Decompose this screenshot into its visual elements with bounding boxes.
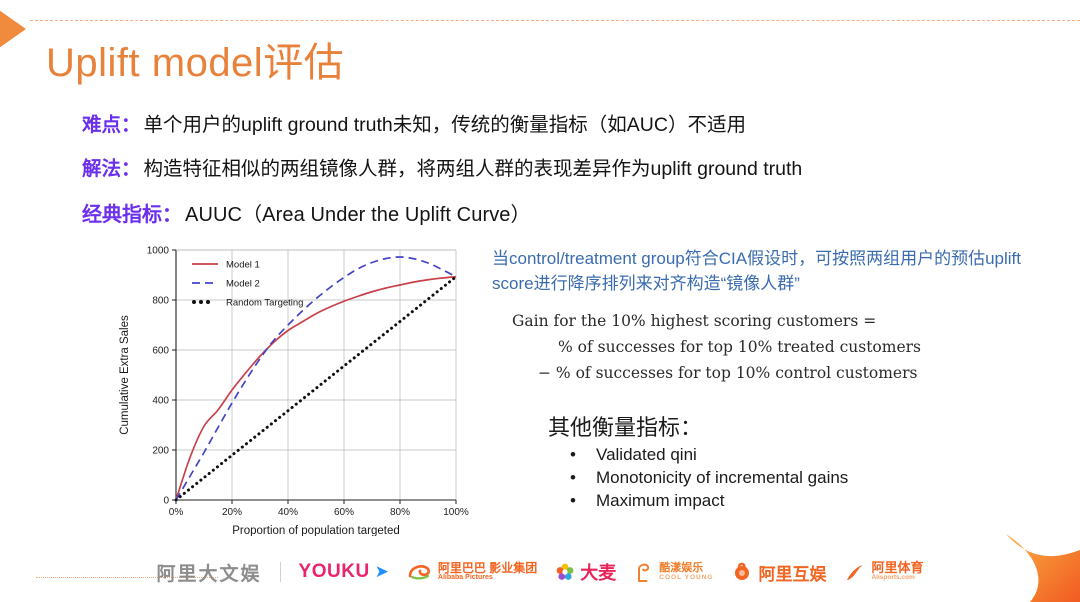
svg-text:200: 200 [152,446,169,457]
svg-text:60%: 60% [334,507,354,518]
alibaba-pictures-cn: 阿里巴巴 影业集团 [438,563,537,574]
legend-label: Random Targeting [226,298,303,309]
list-item: •Maximum impact [570,489,848,512]
bullet-icon: • [570,443,596,466]
cool-young-mark-icon [634,561,654,583]
gain-formula-line-2: % of successes for top 10% treated custo… [512,334,952,360]
alibaba-pictures-mark-icon [407,562,433,582]
alisports-en: Alisports.com [871,574,923,582]
svg-text:100%: 100% [443,507,469,518]
key-point-label-3: 经典指标： [82,204,182,226]
legend-label: Model 2 [226,279,260,290]
ali-huyu-wordmark: 阿里互娱 [758,560,826,585]
cool-young-en: COOL YOUNG [659,574,713,582]
logo-alibaba-digital-media: 阿里大文娱 [157,559,262,586]
logo-cool-young: 酷漾娱乐 COOL YOUNG [634,561,713,583]
gain-formula-block: Gain for the 10% highest scoring custome… [512,308,952,386]
slide-root: Uplift model评估 难点：单个用户的uplift ground tru… [0,0,1080,602]
gain-formula-line-1: Gain for the 10% highest scoring custome… [512,308,952,334]
uplift-curve-chart: 020040060080010000%20%40%60%80%100%Propo… [112,236,472,536]
list-item-label: Validated qini [596,445,697,464]
other-metrics-list: •Validated qini •Monotonicity of increme… [570,443,848,512]
chart-series-model-2 [176,257,456,500]
logo-ali-huyu: 阿里互娱 [731,560,826,585]
svg-text:1000: 1000 [147,246,170,257]
bullet-icon: • [570,466,596,489]
svg-text:400: 400 [152,396,169,407]
ali-huyu-mark-icon [731,562,753,582]
cool-young-wordmark: 酷漾娱乐 COOL YOUNG [659,563,713,582]
alibaba-pictures-en: Alibaba Pictures [438,574,537,582]
svg-text:Cumulative Extra Sales: Cumulative Extra Sales [119,315,131,435]
cool-young-cn: 酷漾娱乐 [659,563,713,574]
key-point-label-2: 解法： [82,158,141,180]
logo-youku-text: YOUKU [299,561,370,583]
list-item-label: Maximum impact [596,491,724,510]
footer-logo-strip: 阿里大文娱 YOUKU ➤ 阿里巴巴 影业集团 Alibaba Pictures [0,552,1080,592]
other-metrics-title: 其他衡量指标： [548,410,702,442]
key-point-text-2: 构造特征相似的两组镜像人群，将两组人群的表现差异作为uplift ground … [144,158,803,180]
alisports-cn: 阿里体育 [871,562,923,574]
gain-formula-line-3: − % of successes for top 10% control cus… [512,360,952,386]
top-divider-rule [30,20,1080,21]
svg-text:40%: 40% [278,507,298,518]
page-title: Uplift model评估 [46,30,344,88]
logo-alibaba-pictures: 阿里巴巴 影业集团 Alibaba Pictures [407,562,537,582]
key-point-text-3: AUUC（Area Under the Uplift Curve） [185,204,531,226]
svg-text:600: 600 [152,346,169,357]
corner-arrow-icon [0,8,26,50]
svg-text:20%: 20% [222,507,242,518]
legend-label: Model 1 [226,260,260,271]
logo-youku: YOUKU ➤ [299,561,389,583]
alisports-wordmark: 阿里体育 Alisports.com [871,562,923,582]
list-item: •Validated qini [570,443,848,466]
alibaba-pictures-wordmark: 阿里巴巴 影业集团 Alibaba Pictures [438,563,537,582]
list-item-label: Monotonicity of incremental gains [596,468,848,487]
bullet-icon: • [570,489,596,512]
logo-alisports: 阿里体育 Alisports.com [844,562,923,582]
cia-assumption-note: 当control/treatment group符合CIA假设时，可按照两组用户… [492,246,1024,296]
key-point-line-2: 解法：构造特征相似的两组镜像人群，将两组人群的表现差异作为uplift grou… [82,152,802,181]
svg-text:800: 800 [152,296,169,307]
svg-text:0: 0 [163,496,169,507]
key-point-text-1: 单个用户的uplift ground truth未知，传统的衡量指标（如AUC）… [144,114,746,136]
logo-divider [280,562,281,582]
chart-series-random-targeting [176,277,456,500]
list-item: •Monotonicity of incremental gains [570,466,848,489]
logo-damai: 大麦 [555,559,616,585]
damai-wordmark: 大麦 [580,559,616,585]
svg-text:80%: 80% [390,507,410,518]
svg-text:Proportion of population targe: Proportion of population targeted [232,525,400,536]
chart-svg: 020040060080010000%20%40%60%80%100%Propo… [112,236,472,536]
play-arrow-icon: ➤ [375,562,389,582]
key-point-line-3: 经典指标：AUUC（Area Under the Uplift Curve） [82,198,531,227]
svg-text:0%: 0% [169,507,184,518]
alisports-runner-icon [844,562,866,582]
key-point-line-1: 难点：单个用户的uplift ground truth未知，传统的衡量指标（如A… [82,108,746,137]
key-point-label-1: 难点： [82,114,141,136]
damai-flower-icon [555,562,575,582]
